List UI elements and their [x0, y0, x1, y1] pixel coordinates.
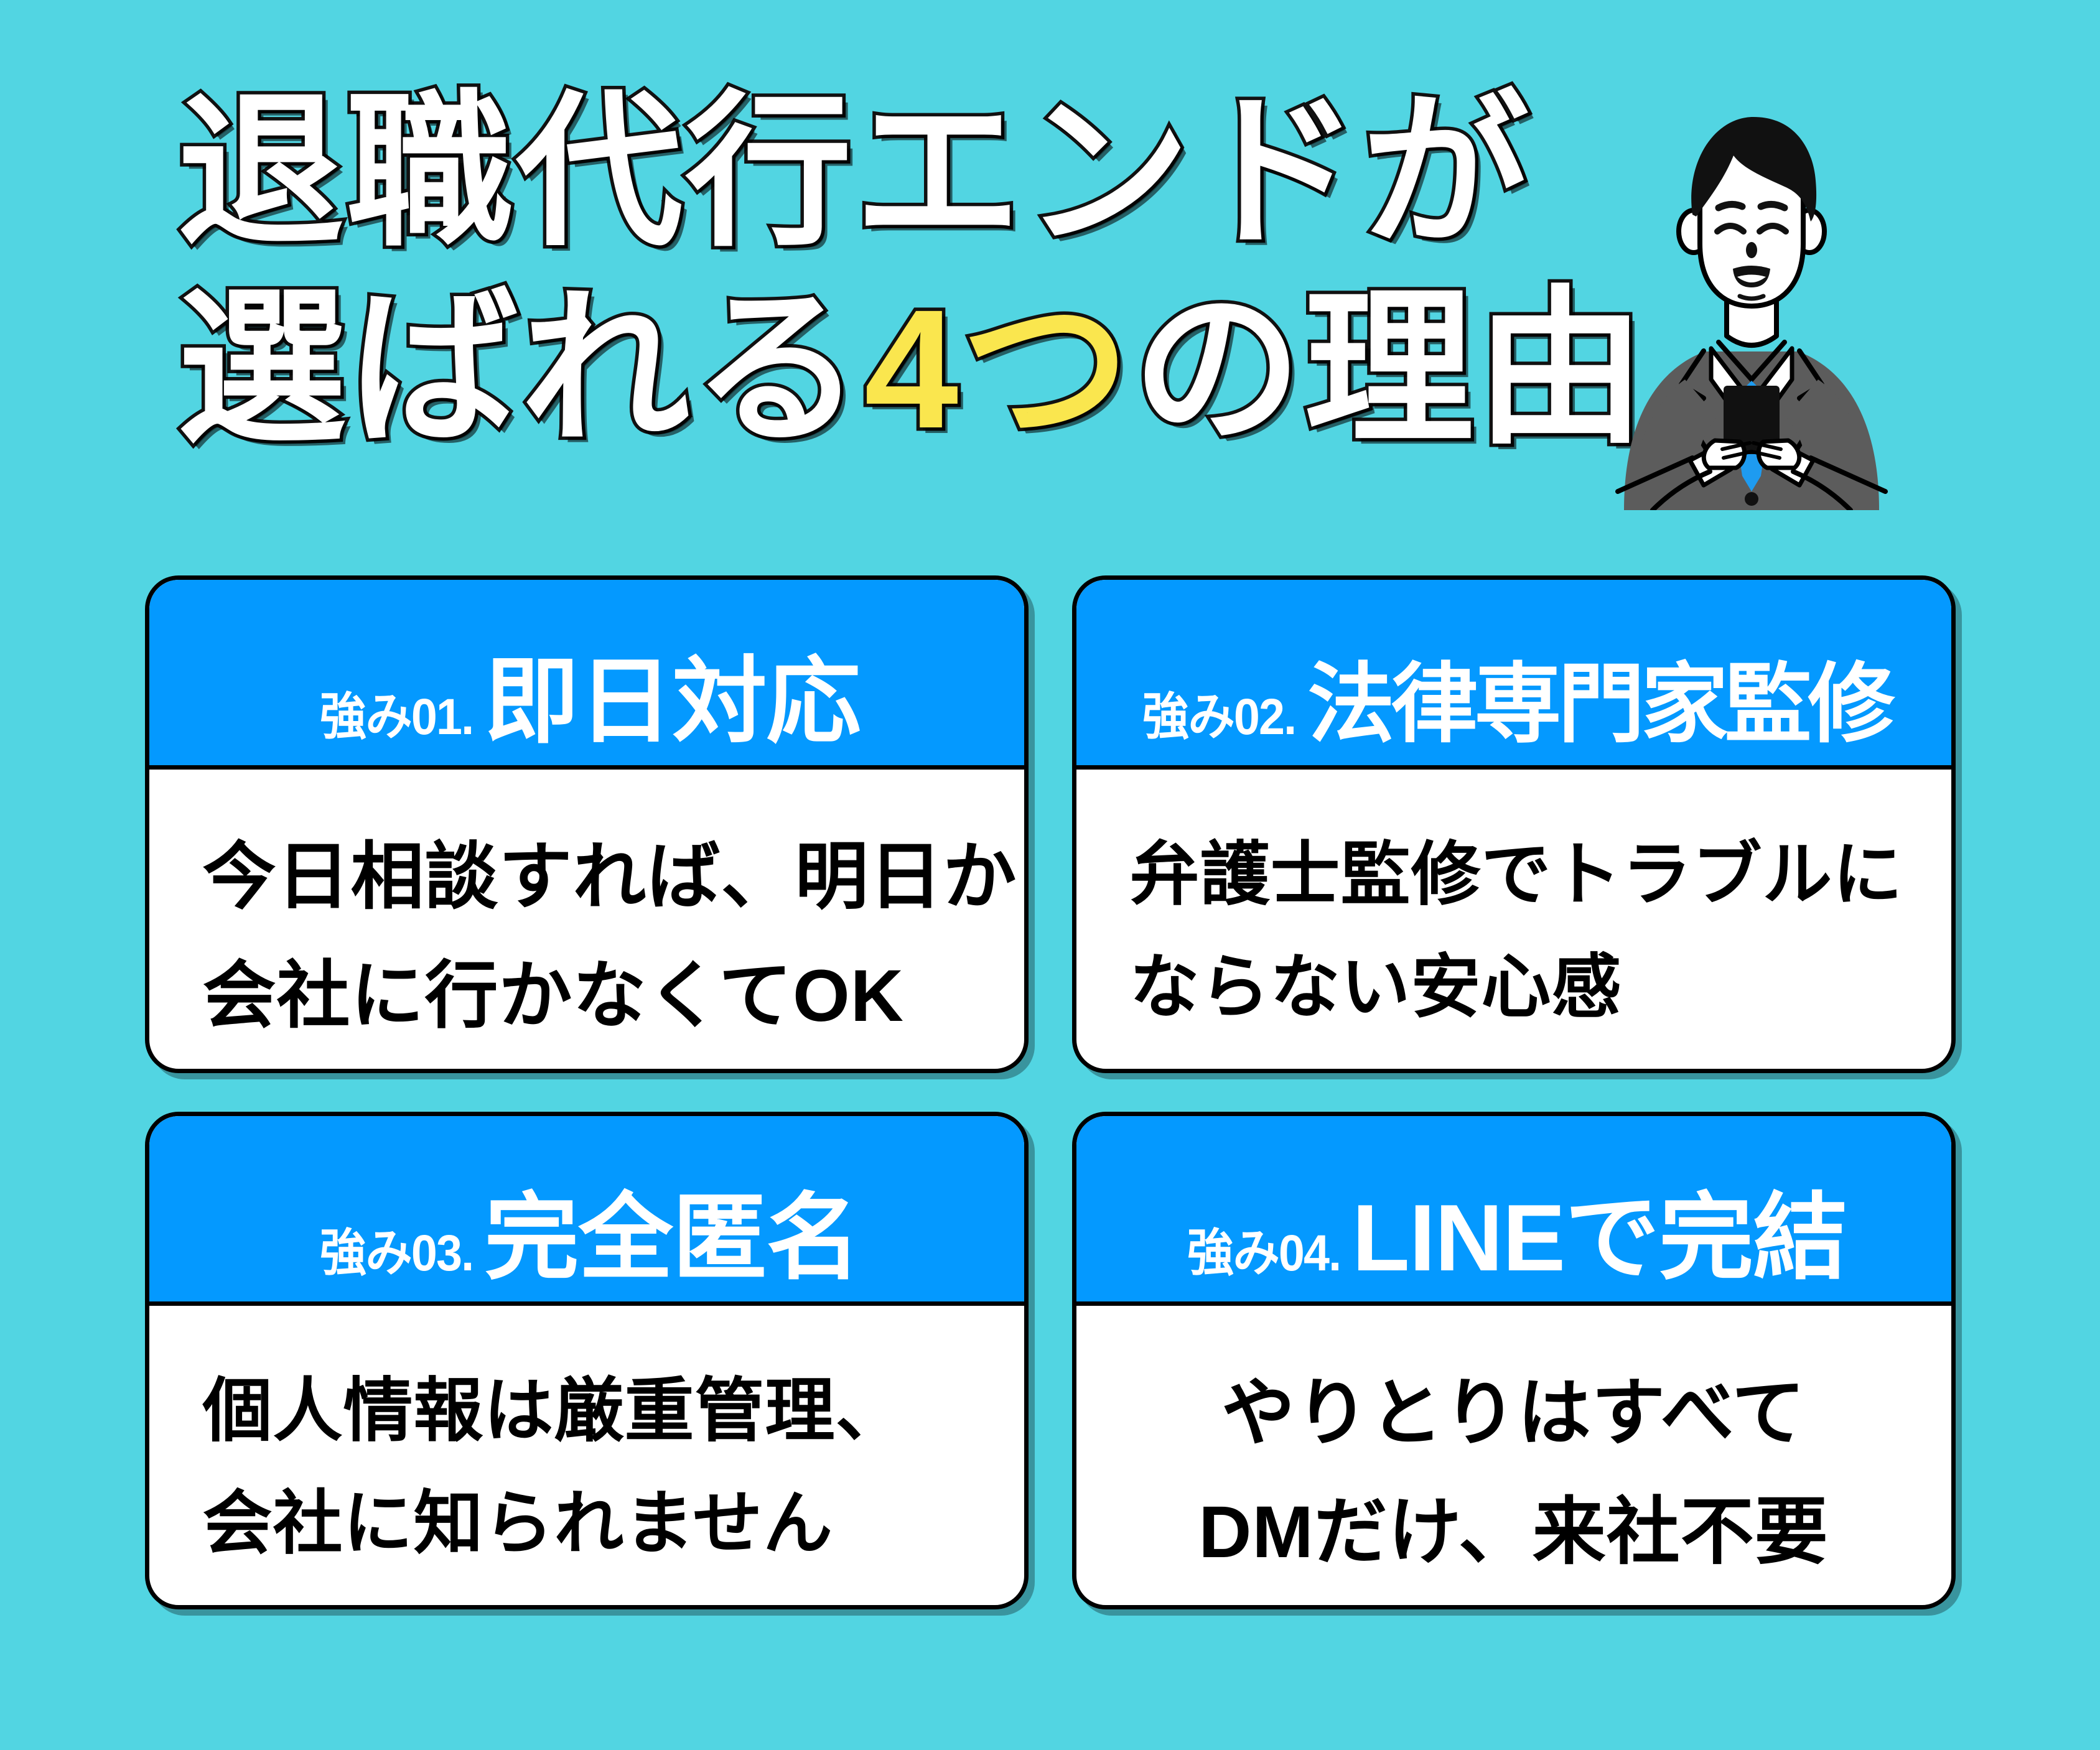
card-kicker-04: 強み04.	[1187, 1211, 1341, 1285]
card-title-01: 即日対応	[485, 654, 861, 749]
title-accent-four: 4つ	[864, 274, 1132, 463]
card-body-04: やりとりはすべて DMだけ、来社不要	[1076, 1306, 1951, 1605]
card-title-04: LINEで完結	[1352, 1191, 1847, 1285]
card-body-01: 今日相談すれば、明日から 会社に行かなくてOK	[149, 770, 1024, 1069]
card-body-line-03-1: 個人情報は厳重管理、	[203, 1354, 1024, 1467]
card-kicker-01: 強み01.	[319, 675, 473, 749]
strength-card-01[interactable]: 強み01. 即日対応 今日相談すれば、明日から 会社に行かなくてOK	[145, 575, 1029, 1073]
strength-card-03[interactable]: 強み03. 完全匿名 個人情報は厳重管理、 会社に知られません	[145, 1112, 1029, 1609]
card-body-line-01-1: 今日相談すれば、明日から	[203, 818, 1024, 937]
title-line-2-prefix: 選ばれる	[177, 274, 864, 463]
card-body-line-04-1: やりとりはすべて	[1076, 1354, 1951, 1473]
businessman-with-smartphone-illustration	[1537, 87, 1966, 510]
card-body-line-04-2: DMだけ、来社不要	[1076, 1473, 1951, 1592]
strengths-card-grid: 強み01. 即日対応 今日相談すれば、明日から 会社に行かなくてOK 強み02.…	[0, 575, 2100, 1608]
card-body-line-02-2: ならない安心感	[1130, 931, 1951, 1043]
title-line-2: 選ばれる4つの理由	[177, 270, 1496, 468]
strength-card-02[interactable]: 強み02. 法律専門家監修 弁護士監修でトラブルに ならない安心感	[1072, 575, 1956, 1073]
card-kicker-03: 強み03.	[319, 1211, 473, 1285]
infographic-page: { "colors": { "background": "#52D5E2", "…	[0, 0, 2100, 1750]
card-header-03: 強み03. 完全匿名	[149, 1116, 1024, 1306]
card-header-02: 強み02. 法律専門家監修	[1076, 580, 1951, 770]
card-title-02: 法律専門家監修	[1307, 661, 1891, 748]
card-header-01: 強み01. 即日対応	[149, 580, 1024, 770]
card-body-line-01-2: 会社に行かなくてOK	[203, 937, 1024, 1056]
card-body-03: 個人情報は厳重管理、 会社に知られません	[149, 1306, 1024, 1605]
title-line-1: 退職代行エンドが	[177, 75, 1496, 270]
card-body-line-03-2: 会社に知られません	[203, 1467, 1024, 1580]
card-title-03: 完全匿名	[485, 1191, 861, 1285]
card-kicker-02: 強み02.	[1142, 675, 1296, 749]
card-header-04: 強み04. LINEで完結	[1076, 1116, 1951, 1306]
card-body-line-02-1: 弁護士監修でトラブルに	[1130, 818, 1951, 931]
page-title: 退職代行エンドが 選ばれる4つの理由	[177, 75, 1496, 468]
strength-card-04[interactable]: 強み04. LINEで完結 やりとりはすべて DMだけ、来社不要	[1072, 1112, 1956, 1609]
card-body-02: 弁護士監修でトラブルに ならない安心感	[1076, 770, 1951, 1069]
